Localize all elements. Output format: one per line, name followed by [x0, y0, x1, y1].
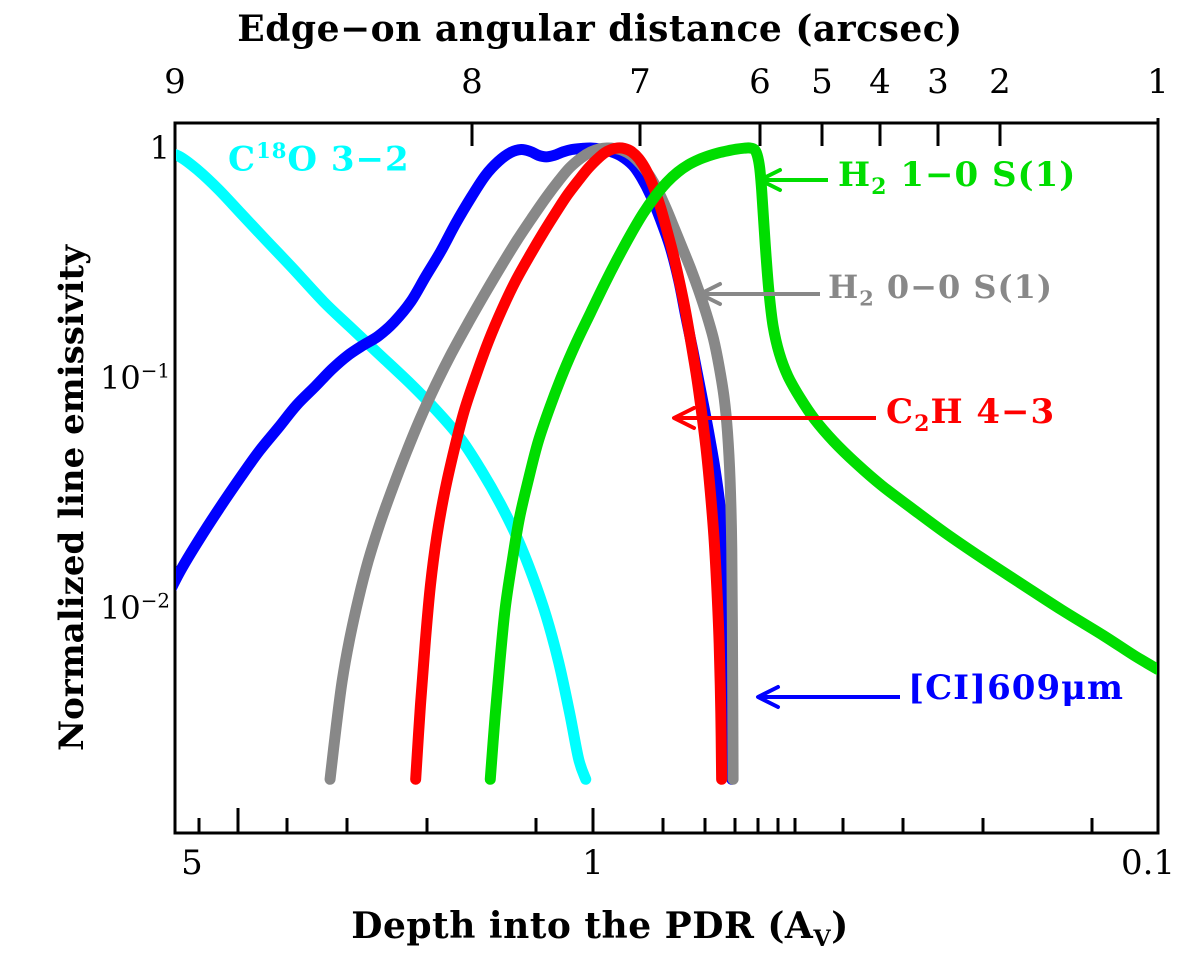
plot-canvas [0, 0, 1200, 966]
c2h-element: C [886, 392, 914, 432]
bottom-tick-label-0.1: 0.1 [1121, 843, 1175, 883]
bottom-axis-major-ticks [238, 808, 1158, 833]
h2-10-transition: 1−0 S(1) [888, 155, 1077, 195]
top-tick-label-9: 9 [164, 62, 186, 102]
y-tick-exponent-1e-2: −2 [141, 589, 170, 612]
series-label-h2-0-0: H2 0−0 S(1) [828, 268, 1053, 310]
h2-00-element: H [828, 268, 859, 306]
h2-10-subscript: 2 [871, 174, 887, 200]
c2h-transition: H 4−3 [930, 392, 1055, 432]
h2-10-arrow [760, 170, 828, 190]
series-label-c2h: C2H 4−3 [886, 392, 1055, 437]
y-tick-mantissa-1: 1 [150, 129, 170, 167]
top-tick-label-3: 3 [927, 62, 949, 102]
top-tick-label-7: 7 [629, 62, 651, 102]
pdr-emissivity-figure: Edge−on angular distance (arcsec) Normal… [0, 0, 1200, 966]
top-tick-label-1: 1 [1147, 62, 1169, 102]
top-tick-label-6: 6 [749, 62, 771, 102]
bottom-tick-label-1: 1 [582, 843, 604, 883]
ci-arrow [758, 687, 900, 707]
bottom-axis-minor-ticks [199, 818, 1092, 833]
h2-00-arrow [700, 284, 820, 304]
c18o-transition: O 3−2 [287, 139, 409, 179]
c18o-mass-number: 18 [256, 138, 287, 163]
series-label-ci: [CI]609μm [908, 668, 1124, 708]
top-tick-label-5: 5 [811, 62, 833, 102]
bottom-tick-label-5: 5 [181, 843, 203, 883]
curve-c18o [160, 150, 586, 779]
top-tick-label-2: 2 [989, 62, 1011, 102]
y-tick-label-1e-1: 10−1 [100, 359, 170, 397]
y-tick-exponent-1e-1: −1 [141, 359, 170, 382]
series-label-h2-1-0: H2 1−0 S(1) [838, 155, 1076, 200]
h2-00-subscript: 2 [859, 285, 874, 310]
series-label-c18o: C18O 3−2 [228, 138, 410, 179]
y-tick-mantissa-1e-2: 10 [100, 589, 141, 627]
y-tick-mantissa-1e-1: 10 [100, 359, 141, 397]
y-tick-label-1e-2: 10−2 [100, 589, 170, 627]
h2-10-element: H [838, 155, 871, 195]
c18o-element: C [228, 139, 256, 179]
top-tick-label-8: 8 [461, 62, 483, 102]
y-tick-label-1: 1 [150, 129, 170, 167]
c2h-subscript: 2 [914, 411, 930, 437]
h2-00-transition: 0−0 S(1) [875, 268, 1053, 306]
top-tick-label-4: 4 [869, 62, 891, 102]
